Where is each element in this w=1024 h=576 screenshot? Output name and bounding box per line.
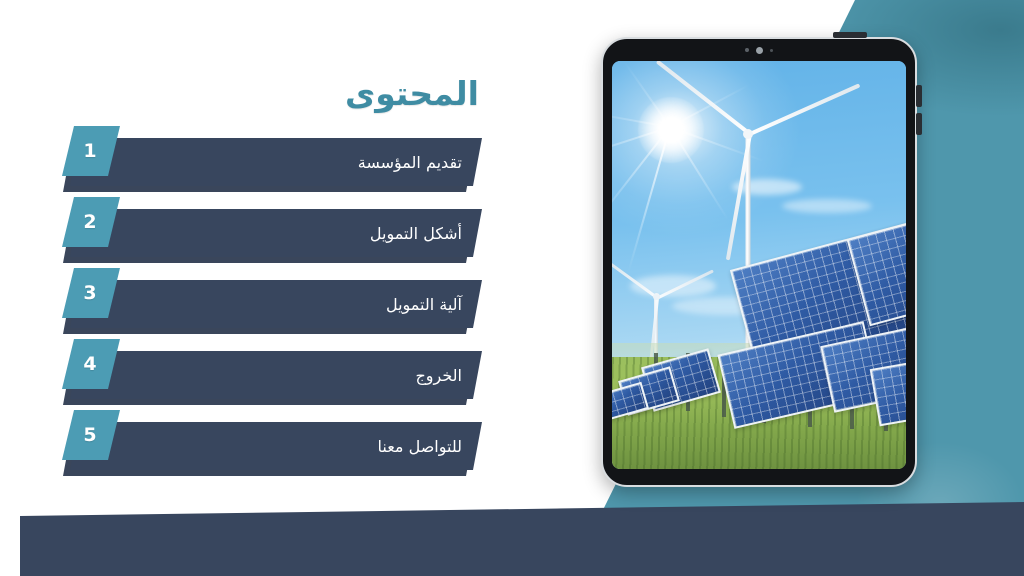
list-item-label: للتواصل معنا [70,422,462,470]
power-button-icon[interactable] [833,32,867,38]
list-item-number: 4 [83,353,96,375]
list-item-label: آلية التمويل [70,280,462,328]
list-item-label: تقديم المؤسسة [70,138,462,186]
front-camera-icon [601,45,917,55]
volume-down-button-icon[interactable] [916,113,922,135]
list-item[interactable]: أشكل التمويل 2 [0,197,560,268]
list-item-label: أشكل التمويل [70,209,462,257]
tablet-screen [612,61,906,469]
list-item[interactable]: تقديم المؤسسة 1 [0,126,560,197]
list-item[interactable]: آلية التمويل 3 [0,268,560,339]
list-item[interactable]: الخروج 4 [0,339,560,410]
contents-list: تقديم المؤسسة 1 أشكل التمويل 2 آلية التم… [0,126,560,481]
volume-up-button-icon[interactable] [916,85,922,107]
list-item-label: الخروج [70,351,462,399]
page-title: المحتوى [345,74,479,113]
presentation-slide: المحتوى تقديم المؤسسة 1 أشكل التمويل 2 آ… [0,0,1024,576]
list-item-number: 1 [83,140,96,162]
list-item-number: 5 [83,424,96,446]
list-item-number: 2 [83,211,96,233]
renewable-energy-photo [612,61,906,469]
list-item[interactable]: للتواصل معنا 5 [0,410,560,481]
tablet-device-mockup [601,37,917,487]
list-item-number: 3 [83,282,96,304]
